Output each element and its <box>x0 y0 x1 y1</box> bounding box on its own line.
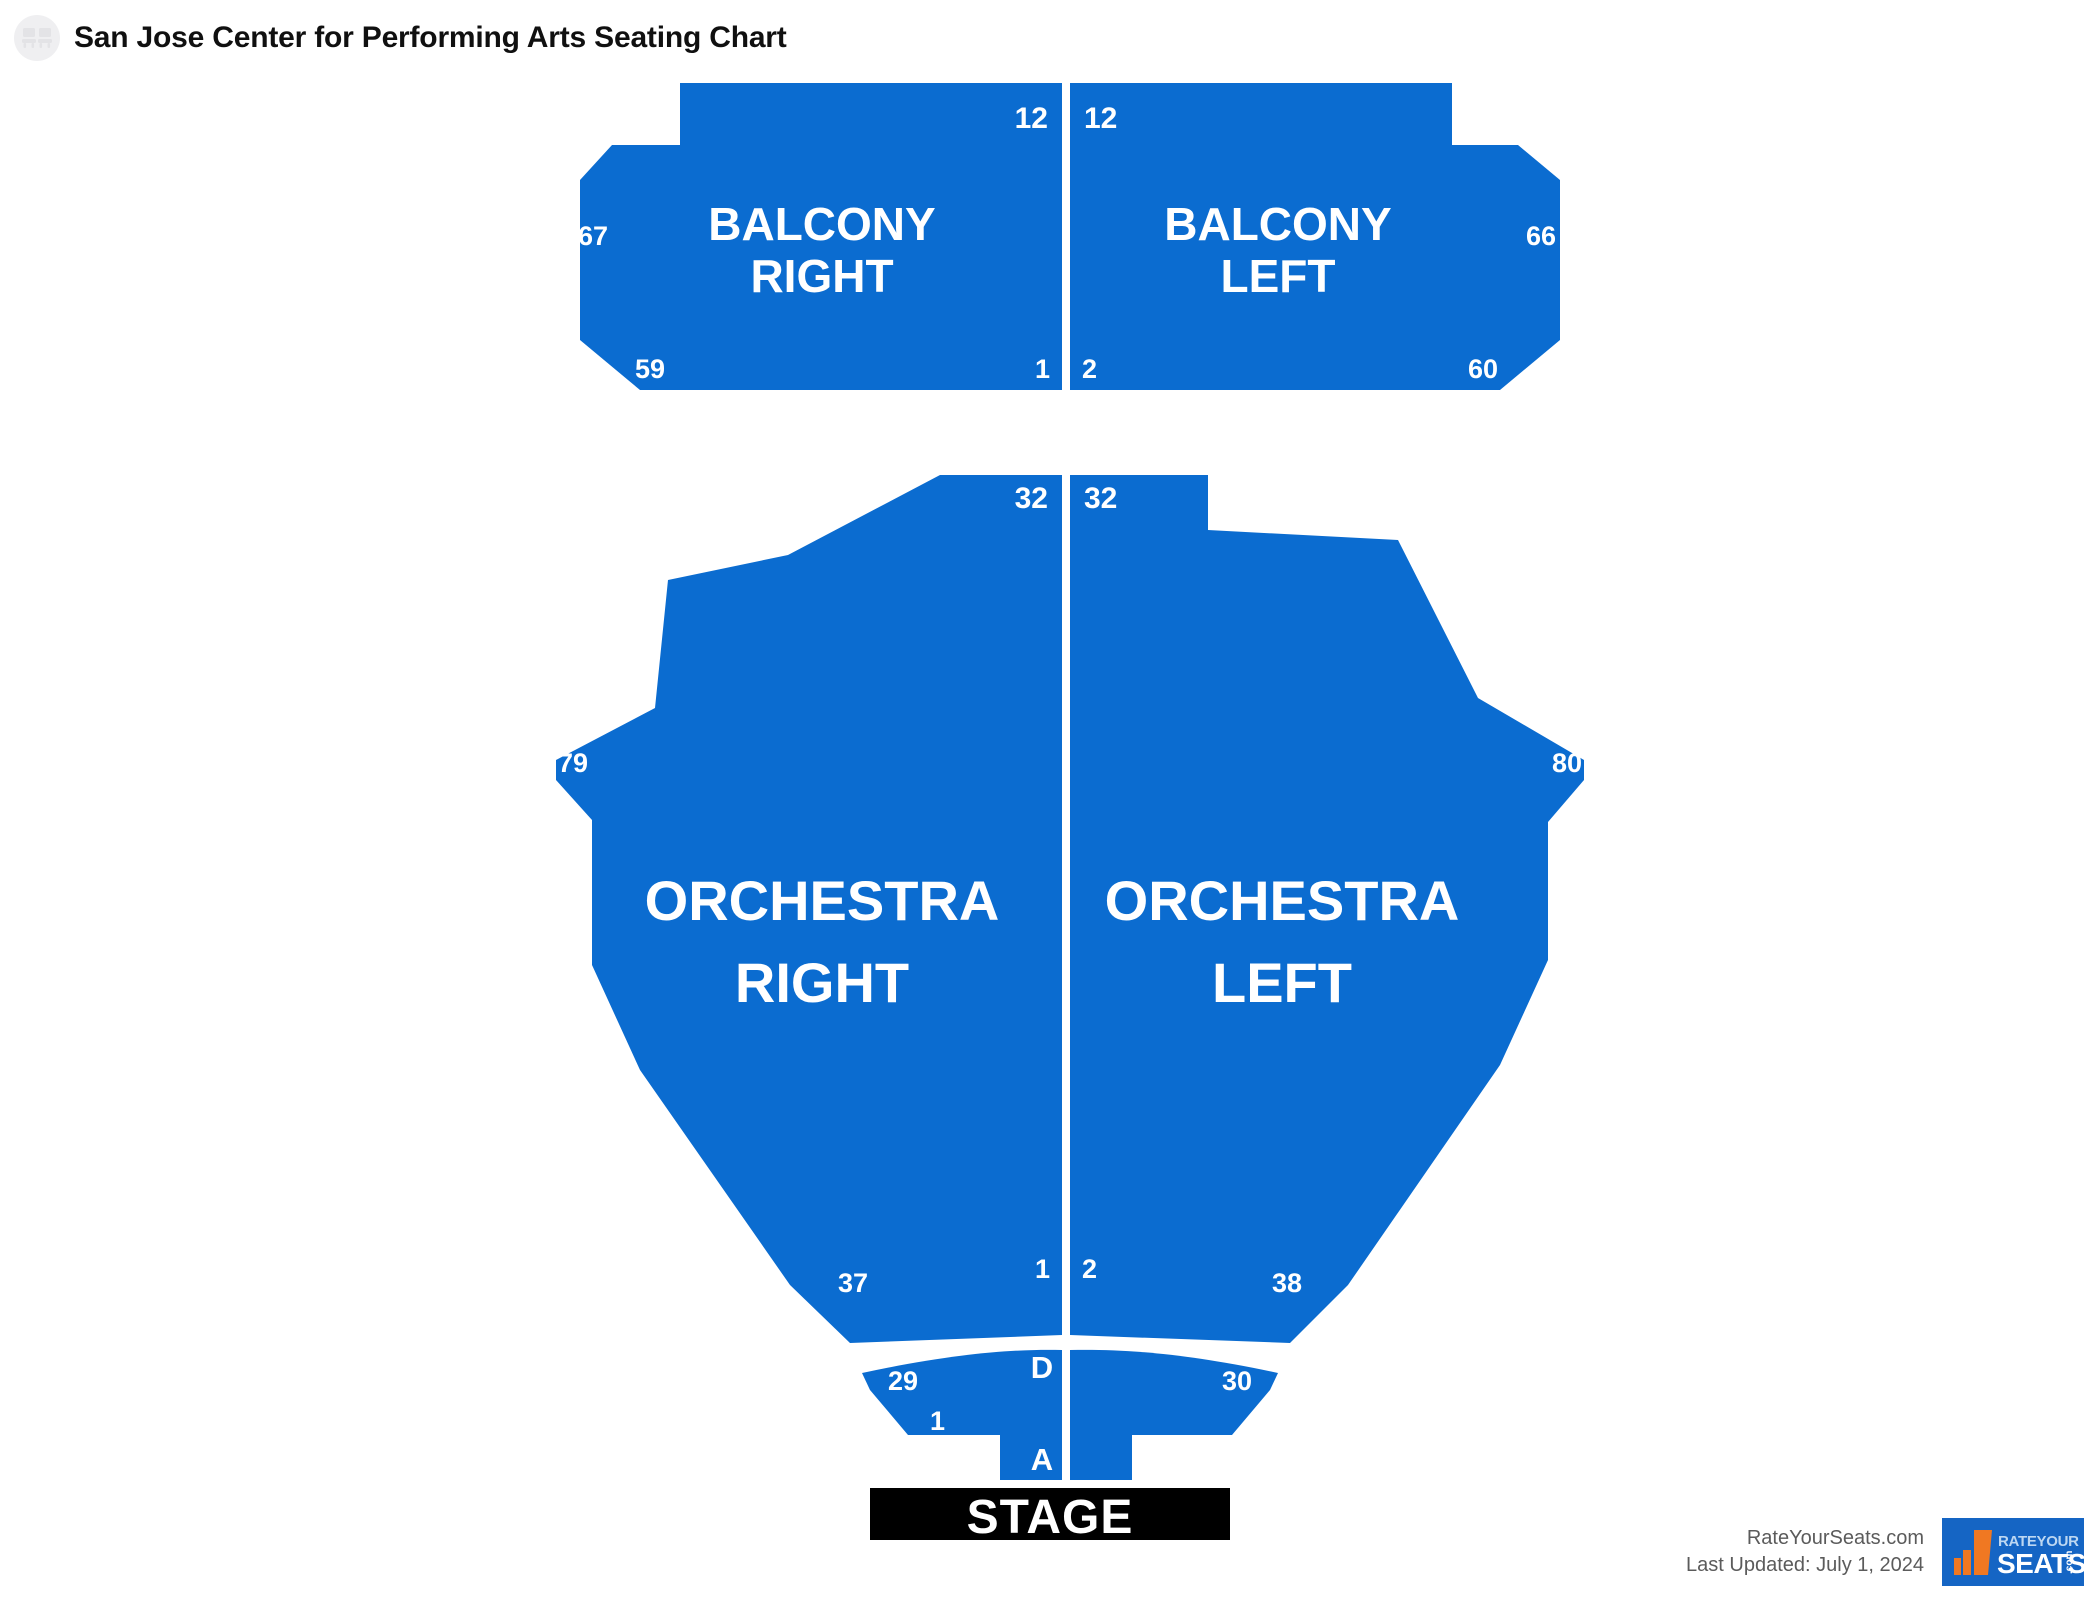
balcony-right-seat-12: 12 <box>1015 102 1048 135</box>
section-orchestra-left[interactable]: 32 80 2 38 ORCHESTRA LEFT <box>1070 475 1584 1343</box>
orchestra-left-seat-38: 38 <box>1272 1268 1302 1298</box>
orchestra-right-label-line2: RIGHT <box>735 951 909 1014</box>
footer-site: RateYourSeats.com <box>1686 1525 1924 1552</box>
section-pit-right[interactable]: 29 1 D <box>862 1350 1062 1436</box>
seating-chart-page: San Jose Center for Performing Arts Seat… <box>0 0 2100 1600</box>
section-orchestra-right[interactable]: 32 79 37 1 ORCHESTRA RIGHT <box>556 475 1062 1343</box>
balcony-right-label-line2: RIGHT <box>750 250 893 302</box>
pit-row-a-label: A <box>1031 1442 1053 1477</box>
section-balcony-left[interactable]: 12 66 2 60 BALCONY LEFT <box>1070 83 1560 390</box>
balcony-left-seat-66: 66 <box>1526 221 1556 251</box>
page-title: San Jose Center for Performing Arts Seat… <box>74 21 787 55</box>
pit-row-a-left-shape[interactable] <box>1070 1435 1132 1480</box>
balcony-left-seat-60: 60 <box>1468 354 1498 384</box>
section-pit-left[interactable]: 30 <box>1070 1350 1278 1435</box>
balcony-right-seat-59: 59 <box>635 354 665 384</box>
section-balcony-right[interactable]: 12 67 59 1 BALCONY RIGHT <box>578 83 1062 390</box>
pit-right-seat-29: 29 <box>888 1366 918 1396</box>
footer: RateYourSeats.com Last Updated: July 1, … <box>1686 1518 2084 1586</box>
footer-credit: RateYourSeats.com Last Updated: July 1, … <box>1686 1525 1924 1579</box>
orchestra-right-seat-37: 37 <box>838 1268 868 1298</box>
orchestra-left-seat-2: 2 <box>1082 1254 1097 1284</box>
svg-text:.com: .com <box>2064 1551 2075 1574</box>
pit-left-seat-30: 30 <box>1222 1366 1252 1396</box>
stage-label: STAGE <box>967 1491 1134 1540</box>
balcony-left-seat-12: 12 <box>1084 102 1117 135</box>
balcony-right-seat-67: 67 <box>578 221 608 251</box>
orchestra-right-seat-1: 1 <box>1035 1254 1050 1284</box>
orchestra-left-seat-80: 80 <box>1552 748 1582 778</box>
stage: STAGE <box>870 1488 1230 1540</box>
balcony-left-label-line1: BALCONY <box>1164 198 1391 250</box>
balcony-left-seat-2: 2 <box>1082 354 1097 384</box>
balcony-left-label-line2: LEFT <box>1221 250 1336 302</box>
balcony-right-seat-1: 1 <box>1035 354 1050 384</box>
orchestra-right-seat-79: 79 <box>558 748 588 778</box>
center-aisle-divider <box>1062 83 1070 390</box>
orchestra-left-label-line1: ORCHESTRA <box>1105 869 1460 932</box>
seats-icon <box>14 15 60 61</box>
footer-updated: Last Updated: July 1, 2024 <box>1686 1552 1924 1579</box>
orchestra-right-seat-32: 32 <box>1015 482 1048 515</box>
center-aisle-divider-orchestra <box>1062 475 1070 1480</box>
pit-right-seat-1: 1 <box>930 1406 945 1436</box>
rateyourseats-logo[interactable]: RATEYOUR SEATS .com <box>1942 1518 2084 1586</box>
orchestra-right-label-line1: ORCHESTRA <box>645 869 1000 932</box>
orchestra-left-seat-32: 32 <box>1084 482 1117 515</box>
pit-row-d-label: D <box>1031 1350 1053 1385</box>
orchestra-left-label-line2: LEFT <box>1212 951 1352 1014</box>
seating-map: 12 67 59 1 BALCONY RIGHT 12 66 2 60 BALC… <box>0 60 2100 1540</box>
balcony-right-label-line1: BALCONY <box>708 198 935 250</box>
